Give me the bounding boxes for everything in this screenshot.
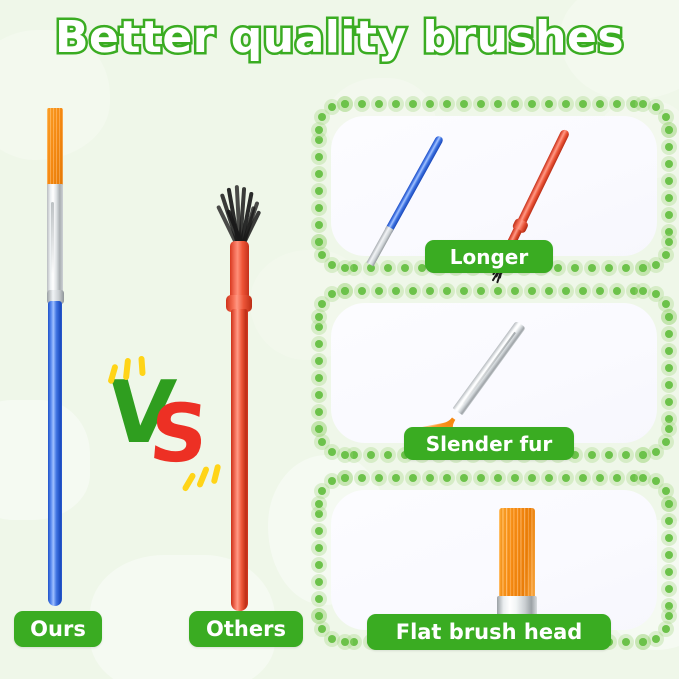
border-dot bbox=[613, 287, 621, 295]
border-dot bbox=[630, 474, 638, 482]
border-dot bbox=[588, 451, 596, 459]
border-dot bbox=[579, 474, 587, 482]
border-dot bbox=[639, 474, 647, 482]
border-dot bbox=[665, 551, 673, 559]
border-dot bbox=[318, 487, 326, 495]
border-dot bbox=[315, 221, 323, 229]
others-handle bbox=[231, 309, 248, 611]
border-dot bbox=[596, 474, 604, 482]
spark-line bbox=[211, 464, 222, 485]
border-dot bbox=[315, 612, 323, 620]
border-dot bbox=[665, 330, 673, 338]
border-dot bbox=[665, 612, 673, 620]
border-dot bbox=[443, 474, 451, 482]
border-dot bbox=[315, 595, 323, 603]
border-dot bbox=[315, 425, 323, 433]
border-dot bbox=[622, 264, 630, 272]
border-dot bbox=[665, 228, 673, 236]
others-ferrule bbox=[230, 241, 249, 299]
badge-flat-brush-head[interactable]: Flat brush head bbox=[367, 614, 611, 650]
border-dot bbox=[545, 100, 553, 108]
border-dot bbox=[358, 100, 366, 108]
border-dot bbox=[318, 625, 326, 633]
border-dot bbox=[665, 160, 673, 168]
border-dot bbox=[315, 204, 323, 212]
feature-card bbox=[331, 490, 657, 630]
brush-handle bbox=[515, 128, 570, 229]
border-dot bbox=[665, 313, 673, 321]
border-dot bbox=[554, 264, 562, 272]
others-bristles bbox=[225, 185, 253, 247]
border-dot bbox=[511, 100, 519, 108]
border-dot bbox=[315, 578, 323, 586]
border-dot bbox=[358, 474, 366, 482]
border-dot bbox=[652, 448, 660, 456]
border-dot bbox=[341, 638, 349, 646]
page-title: Better quality brushes bbox=[55, 12, 624, 63]
border-dot bbox=[328, 290, 336, 298]
border-dot bbox=[665, 568, 673, 576]
border-dot bbox=[409, 474, 417, 482]
border-dot bbox=[315, 544, 323, 552]
border-dot bbox=[511, 474, 519, 482]
border-dot bbox=[652, 103, 660, 111]
border-dot bbox=[562, 100, 570, 108]
border-dot bbox=[477, 474, 485, 482]
border-dot bbox=[367, 451, 375, 459]
border-dot bbox=[426, 100, 434, 108]
border-dot bbox=[315, 510, 323, 518]
border-dot bbox=[665, 517, 673, 525]
border-dot bbox=[665, 126, 673, 134]
border-dot bbox=[315, 126, 323, 134]
border-dot bbox=[392, 287, 400, 295]
border-dot bbox=[662, 251, 670, 259]
border-dot bbox=[652, 261, 660, 269]
border-dot bbox=[318, 113, 326, 121]
border-dot bbox=[315, 313, 323, 321]
border-dot bbox=[318, 300, 326, 308]
border-dot bbox=[384, 264, 392, 272]
brush-handle bbox=[385, 135, 444, 233]
border-dot bbox=[571, 264, 579, 272]
border-dot bbox=[426, 287, 434, 295]
border-dot bbox=[460, 100, 468, 108]
border-dot bbox=[460, 287, 468, 295]
border-dot bbox=[639, 638, 647, 646]
border-dot bbox=[494, 100, 502, 108]
border-dot bbox=[328, 261, 336, 269]
border-dot bbox=[315, 187, 323, 195]
border-dot bbox=[528, 100, 536, 108]
border-dot bbox=[662, 487, 670, 495]
border-dot bbox=[392, 474, 400, 482]
border-dot bbox=[528, 287, 536, 295]
border-dot bbox=[605, 264, 613, 272]
border-dot bbox=[315, 340, 323, 348]
ours-bristles bbox=[47, 108, 63, 186]
border-dot bbox=[622, 638, 630, 646]
border-dot bbox=[630, 100, 638, 108]
border-dot bbox=[665, 500, 673, 508]
border-dot bbox=[665, 381, 673, 389]
border-dot bbox=[665, 425, 673, 433]
border-dot bbox=[605, 451, 613, 459]
border-dot bbox=[443, 100, 451, 108]
others-brush-illustration bbox=[222, 185, 256, 615]
border-dot bbox=[477, 287, 485, 295]
border-dot bbox=[328, 635, 336, 643]
border-dot bbox=[639, 264, 647, 272]
border-dot bbox=[665, 398, 673, 406]
border-dot bbox=[494, 287, 502, 295]
border-dot bbox=[350, 638, 358, 646]
border-dot bbox=[401, 264, 409, 272]
badge-ours[interactable]: Ours bbox=[14, 611, 102, 647]
border-dot bbox=[588, 264, 596, 272]
border-dot bbox=[460, 474, 468, 482]
badge-longer[interactable]: Longer bbox=[425, 240, 553, 273]
border-dot bbox=[494, 474, 502, 482]
badge-others[interactable]: Others bbox=[189, 611, 303, 647]
border-dot bbox=[665, 143, 673, 151]
border-dot bbox=[596, 100, 604, 108]
border-dot bbox=[315, 323, 323, 331]
border-dot bbox=[639, 100, 647, 108]
promo-poster: Better quality brushes V S bbox=[0, 0, 679, 679]
border-dot bbox=[665, 194, 673, 202]
border-dot bbox=[315, 374, 323, 382]
ours-ferrule bbox=[47, 184, 63, 292]
border-dot bbox=[665, 364, 673, 372]
border-dot bbox=[315, 408, 323, 416]
border-dot bbox=[315, 238, 323, 246]
border-dot bbox=[358, 287, 366, 295]
border-dot bbox=[315, 153, 323, 161]
border-dot bbox=[596, 287, 604, 295]
ours-handle bbox=[48, 301, 62, 606]
border-dot bbox=[545, 474, 553, 482]
border-dot bbox=[392, 100, 400, 108]
border-dot bbox=[375, 100, 383, 108]
border-dot bbox=[652, 477, 660, 485]
border-dot bbox=[562, 474, 570, 482]
comparison-section: V S bbox=[0, 80, 310, 679]
versus-s-letter: S bbox=[147, 394, 212, 474]
border-dot bbox=[662, 300, 670, 308]
border-dot bbox=[318, 251, 326, 259]
brush-ferrule bbox=[453, 321, 526, 415]
ours-brush-illustration bbox=[40, 108, 70, 608]
border-dot bbox=[665, 585, 673, 593]
border-dot bbox=[622, 451, 630, 459]
border-dot bbox=[315, 561, 323, 569]
border-dot bbox=[341, 474, 349, 482]
border-dot bbox=[662, 625, 670, 633]
border-dot bbox=[665, 347, 673, 355]
border-dot bbox=[613, 474, 621, 482]
border-dot bbox=[665, 238, 673, 246]
spark-line bbox=[138, 356, 145, 376]
border-dot bbox=[579, 100, 587, 108]
border-dot bbox=[341, 100, 349, 108]
border-dot bbox=[652, 290, 660, 298]
border-dot bbox=[613, 100, 621, 108]
border-dot bbox=[315, 391, 323, 399]
border-dot bbox=[662, 438, 670, 446]
border-dot bbox=[579, 287, 587, 295]
badge-slender-fur[interactable]: Slender fur bbox=[404, 427, 574, 460]
border-dot bbox=[409, 100, 417, 108]
brush-bristles bbox=[499, 508, 535, 600]
border-dot bbox=[315, 170, 323, 178]
border-dot bbox=[375, 287, 383, 295]
feature-card bbox=[331, 116, 657, 256]
border-dot bbox=[665, 211, 673, 219]
border-dot bbox=[315, 527, 323, 535]
border-dot bbox=[341, 451, 349, 459]
border-dot bbox=[341, 264, 349, 272]
border-dot bbox=[328, 448, 336, 456]
border-dot bbox=[528, 474, 536, 482]
border-dot bbox=[630, 287, 638, 295]
border-dot bbox=[665, 534, 673, 542]
border-dot bbox=[375, 474, 383, 482]
border-dot bbox=[639, 451, 647, 459]
border-dot bbox=[350, 451, 358, 459]
border-dot bbox=[443, 287, 451, 295]
border-dot bbox=[315, 136, 323, 144]
feature-card bbox=[331, 303, 657, 443]
border-dot bbox=[652, 635, 660, 643]
border-dot bbox=[328, 477, 336, 485]
border-dot bbox=[426, 474, 434, 482]
versus-graphic: V S bbox=[108, 368, 218, 493]
border-dot bbox=[662, 113, 670, 121]
border-dot bbox=[639, 287, 647, 295]
border-dot bbox=[409, 287, 417, 295]
border-dot bbox=[328, 103, 336, 111]
border-dot bbox=[665, 602, 673, 610]
border-dot bbox=[545, 287, 553, 295]
border-dot bbox=[477, 100, 485, 108]
border-dot bbox=[562, 287, 570, 295]
border-dot bbox=[315, 500, 323, 508]
border-dot bbox=[318, 438, 326, 446]
border-dot bbox=[665, 415, 673, 423]
title-container: Better quality brushes bbox=[0, 12, 679, 63]
border-dot bbox=[384, 451, 392, 459]
border-dot bbox=[511, 287, 519, 295]
border-dot bbox=[315, 357, 323, 365]
border-dot bbox=[341, 287, 349, 295]
border-dot bbox=[665, 177, 673, 185]
